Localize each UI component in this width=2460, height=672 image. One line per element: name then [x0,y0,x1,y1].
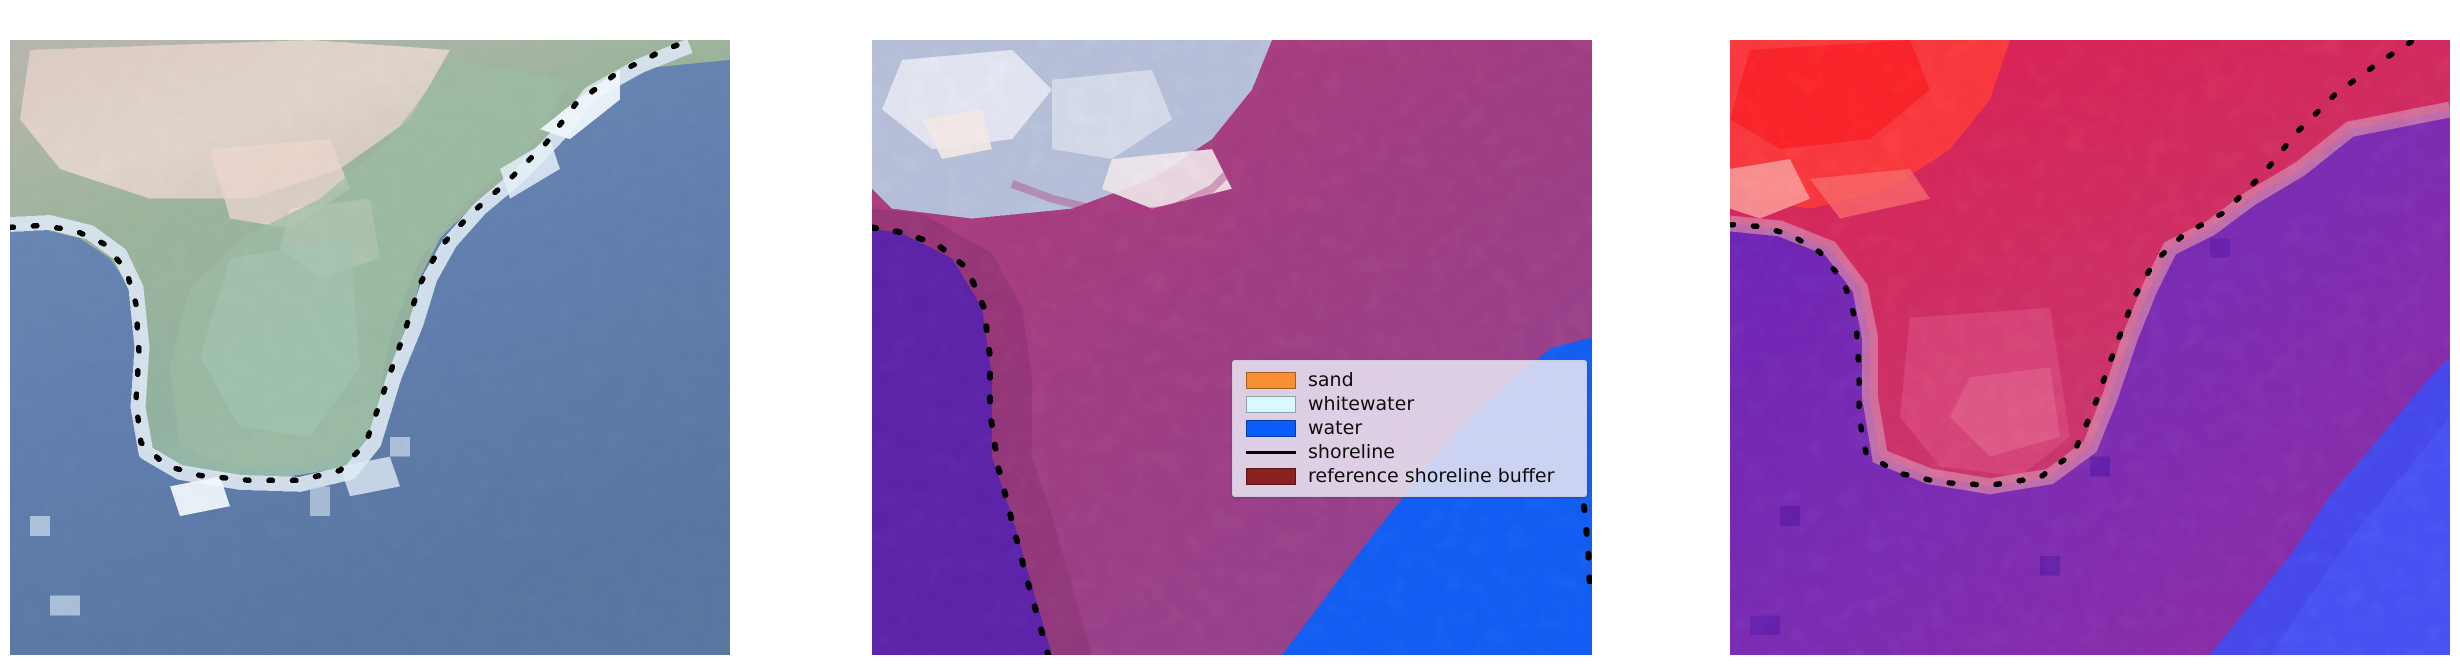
legend-swatch-sand [1246,372,1296,389]
legend-swatch-whitewater-wrap [1242,396,1308,413]
panel-sar1557: sar1557 [10,40,730,655]
legend-swatch-shoreline [1246,451,1296,454]
legend-label-shoreline: shoreline [1308,440,1395,464]
satellite-image-sar1557 [10,40,730,655]
legend-swatch-reference-shoreline-buffer [1246,468,1296,485]
legend-swatch-shoreline-wrap [1242,451,1308,454]
satellite-image-l8 [1730,40,2450,655]
legend-swatch-buffer-wrap [1242,468,1308,485]
legend-item-sand: sand [1242,368,1577,392]
legend-item-whitewater: whitewater [1242,392,1577,416]
legend-swatch-whitewater [1246,396,1296,413]
figure-canvas: sar1557 [0,0,2460,672]
legend-box: sand whitewater water shoreline [1232,360,1587,497]
panel-l8: L8 [1730,40,2450,655]
legend-label-water: water [1308,416,1362,440]
legend-item-reference-shoreline-buffer: reference shoreline buffer [1242,464,1577,488]
legend-swatch-water [1246,420,1296,437]
legend-swatch-water-wrap [1242,420,1308,437]
legend-label-whitewater: whitewater [1308,392,1414,416]
legend-swatch-sand-wrap [1242,372,1308,389]
legend-item-shoreline: shoreline [1242,440,1577,464]
legend-label-sand: sand [1308,368,1354,392]
classified-image [872,40,1592,655]
legend-item-water: water [1242,416,1577,440]
panel-classified: 2016-11-22-10-06-04 [872,40,1592,655]
legend-label-reference-shoreline-buffer: reference shoreline buffer [1308,464,1554,488]
